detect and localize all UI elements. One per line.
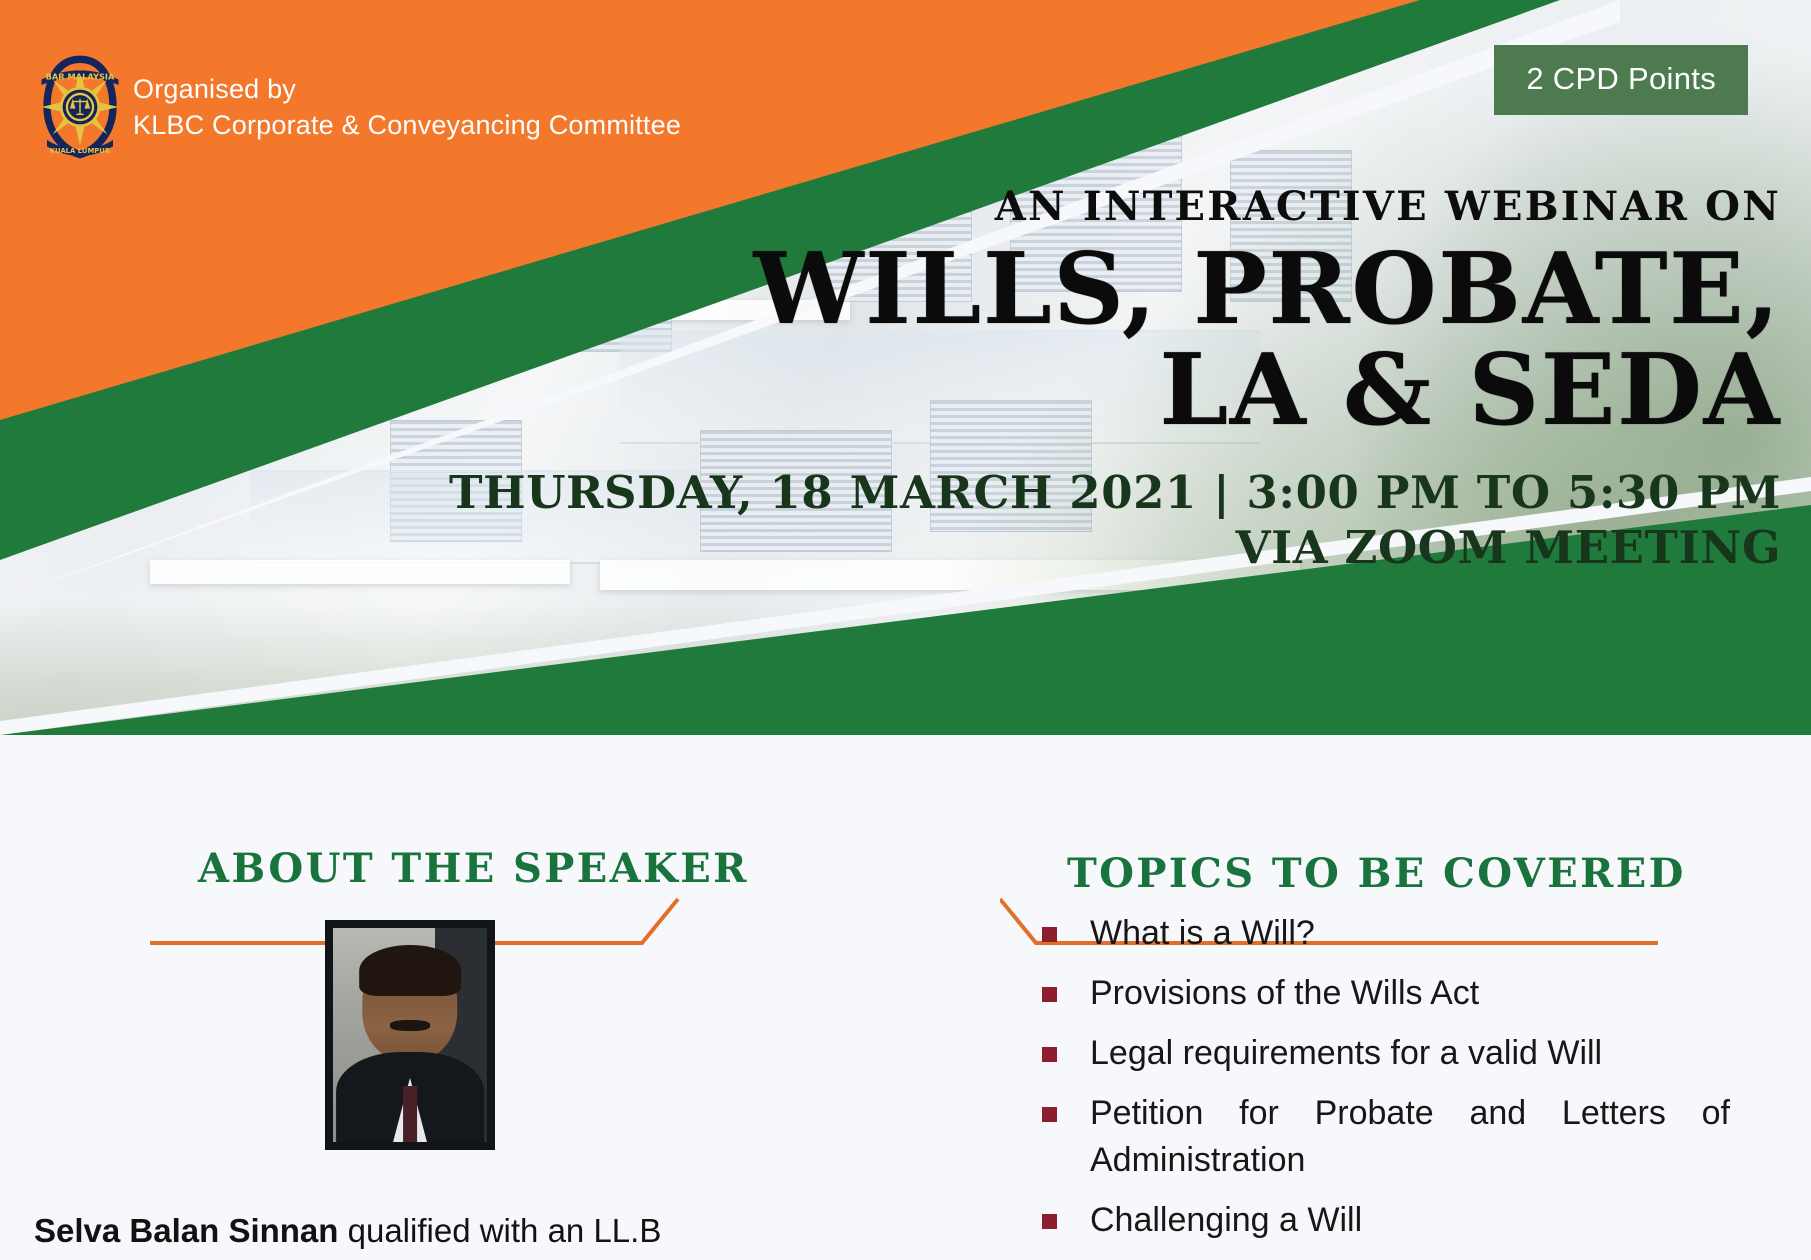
speaker-photo bbox=[325, 920, 495, 1150]
datetime-text: THURSDAY, 18 MARCH 2021 | 3:00 PM TO 5:3… bbox=[449, 466, 1781, 519]
topics-heading: TOPICS TO BE COVERED bbox=[1067, 850, 1686, 897]
datetime-block: THURSDAY, 18 MARCH 2021 | 3:00 PM TO 5:3… bbox=[449, 466, 1781, 576]
hero-banner: BAR MALAYSIA KUALA LUMPUR Organised by K… bbox=[0, 0, 1811, 735]
speaker-bio: Selva Balan Sinnan qualified with an LL.… bbox=[34, 1212, 661, 1249]
list-item: What is a Will? bbox=[1030, 910, 1730, 957]
lower-content: ABOUT THE SPEAKER Selva Balan Sinnan qua… bbox=[0, 735, 1811, 1260]
topics-list: What is a Will? Provisions of the Wills … bbox=[1030, 910, 1730, 1256]
list-item: Provisions of the Wills Act bbox=[1030, 970, 1730, 1017]
speaker-bio-text: Selva Balan Sinnan qualified with an LL.… bbox=[34, 1210, 834, 1253]
svg-text:KUALA LUMPUR: KUALA LUMPUR bbox=[50, 147, 111, 155]
svg-text:BAR MALAYSIA: BAR MALAYSIA bbox=[46, 72, 115, 82]
organiser-line-2: KLBC Corporate & Conveyancing Committee bbox=[133, 108, 681, 144]
title-line-1: WILLS, PROBATE, bbox=[754, 232, 1781, 347]
cpd-points-badge: 2 CPD Points bbox=[1494, 45, 1748, 115]
organiser-block: Organised by KLBC Corporate & Conveyanci… bbox=[133, 72, 681, 143]
title-block: AN INTERACTIVE WEBINAR ON WILLS, PROBATE… bbox=[449, 186, 1781, 576]
webinar-poster: BAR MALAYSIA KUALA LUMPUR Organised by K… bbox=[0, 0, 1811, 1260]
list-item: Legal requirements for a valid Will bbox=[1030, 1030, 1730, 1077]
list-item: Petition for Probate and Letters of Admi… bbox=[1030, 1090, 1730, 1184]
bar-malaysia-emblem-icon: BAR MALAYSIA KUALA LUMPUR bbox=[34, 52, 126, 162]
bar-malaysia-logo: BAR MALAYSIA KUALA LUMPUR bbox=[34, 52, 126, 162]
page-title: WILLS, PROBATE, LA & SEDA bbox=[449, 240, 1781, 442]
speaker-portrait bbox=[333, 928, 487, 1142]
title-line-2: LA & SEDA bbox=[449, 341, 1781, 442]
venue-text: VIA ZOOM MEETING bbox=[449, 521, 1781, 576]
about-speaker-heading: ABOUT THE SPEAKER bbox=[198, 845, 749, 892]
list-item: Challenging a Will bbox=[1030, 1197, 1730, 1244]
kicker-text: AN INTERACTIVE WEBINAR ON bbox=[449, 186, 1781, 228]
organiser-line-1: Organised by bbox=[133, 72, 681, 108]
